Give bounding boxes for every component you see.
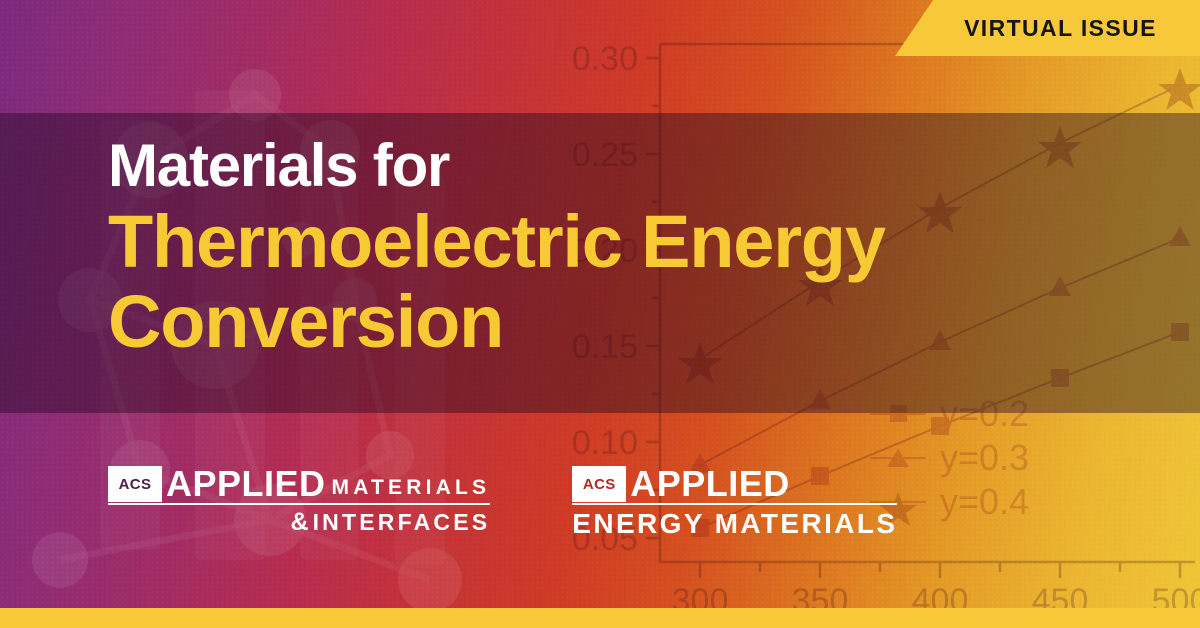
acs-applied-materials-interfaces-logo: ACS APPLIED MATERIALS & INTERFACES bbox=[108, 466, 490, 537]
acs-applied-energy-materials-logo: ACS APPLIED ENERGY MATERIALS bbox=[572, 466, 897, 540]
acs-chip-label: ACS bbox=[583, 477, 616, 492]
virtual-issue-ribbon: VIRTUAL ISSUE bbox=[895, 0, 1200, 56]
acs-chip: ACS bbox=[108, 466, 162, 502]
journal-logo-lockups: ACS APPLIED MATERIALS & INTERFACES ACS A… bbox=[108, 466, 897, 540]
bottom-accent-bar bbox=[0, 608, 1200, 628]
headline-line-1: Materials for bbox=[108, 134, 1068, 198]
virtual-issue-label: VIRTUAL ISSUE bbox=[964, 15, 1157, 42]
ami-materials-word: MATERIALS bbox=[326, 466, 491, 502]
virtual-issue-banner-graphic: 0.30 0.25 0.20 0.15 0.10 0.05 300 350 40… bbox=[0, 0, 1200, 628]
acs-chip-label: ACS bbox=[119, 477, 152, 492]
headline-block: Materials for Thermoelectric Energy Conv… bbox=[108, 134, 1068, 362]
acs-chip: ACS bbox=[572, 466, 626, 502]
svg-text:y=0.2: y=0.2 bbox=[940, 393, 1029, 434]
aem-applied-word: APPLIED bbox=[626, 466, 790, 502]
headline-line-2: Thermoelectric Energy bbox=[108, 202, 1068, 282]
svg-text:y=0.3: y=0.3 bbox=[940, 437, 1029, 478]
svg-text:0.30: 0.30 bbox=[572, 40, 638, 78]
svg-text:y=0.4: y=0.4 bbox=[940, 481, 1029, 522]
ami-applied-word: APPLIED bbox=[162, 466, 326, 502]
aem-energy-materials-word: ENERGY MATERIALS bbox=[572, 508, 897, 540]
aem-logo-top-row: ACS APPLIED bbox=[572, 466, 897, 502]
ami-ampersand: & bbox=[291, 508, 313, 537]
svg-text:0.10: 0.10 bbox=[572, 424, 638, 462]
ami-logo-bottom-row: & INTERFACES bbox=[108, 508, 490, 537]
headline-line-3: Conversion bbox=[108, 282, 1068, 362]
ami-interfaces-word: INTERFACES bbox=[313, 509, 491, 536]
aem-logo-bottom-row: ENERGY MATERIALS bbox=[572, 508, 897, 540]
ami-logo-top-row: ACS APPLIED MATERIALS bbox=[108, 466, 490, 502]
